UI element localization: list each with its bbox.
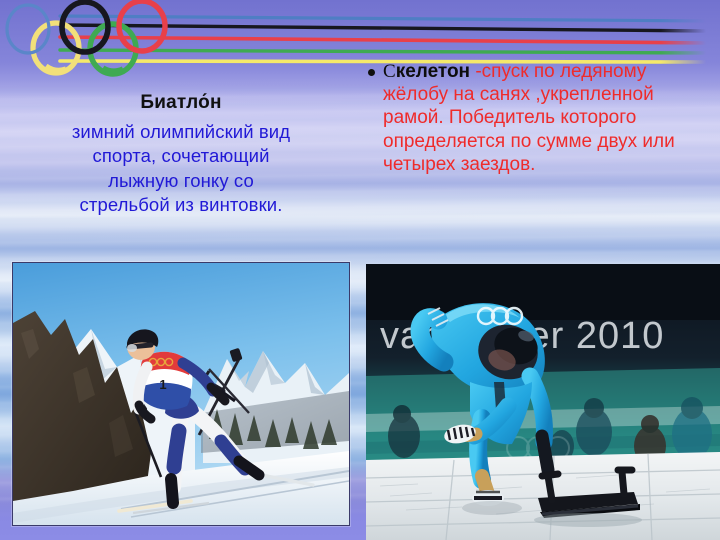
- biathlon-photo: 1: [12, 262, 350, 526]
- skeleton-description: Скелетон -спуск по ледяному жёлобу на са…: [383, 60, 708, 176]
- skeleton-keyword: Скелетон: [383, 61, 470, 82]
- left-text-column: Биатло́н зимний олимпийский вид спорта, …: [16, 92, 346, 217]
- biathlon-line-2: спорта, сочетающий: [16, 144, 346, 168]
- biathlon-line-3: лыжную гонку со: [16, 169, 346, 193]
- biathlon-line-1: зимний олимпийский вид: [16, 120, 346, 144]
- right-text-column: Скелетон -спуск по ледяному жёлобу на са…: [368, 60, 708, 176]
- presentation-slide: Биатло́н зимний олимпийский вид спорта, …: [0, 0, 720, 540]
- skeleton-bullet-item: Скелетон -спуск по ледяному жёлобу на са…: [368, 60, 708, 176]
- skeleton-photo: vancouver 2010: [366, 264, 720, 540]
- bullet-dot-icon: [368, 69, 375, 76]
- biathlon-description: зимний олимпийский вид спорта, сочетающи…: [16, 120, 346, 218]
- biathlon-line-4: стрельбой из винтовки.: [16, 193, 346, 217]
- biathlon-heading: Биатло́н: [16, 92, 346, 114]
- skeleton-keyword-initial: С: [383, 61, 396, 82]
- svg-text:1: 1: [159, 377, 166, 392]
